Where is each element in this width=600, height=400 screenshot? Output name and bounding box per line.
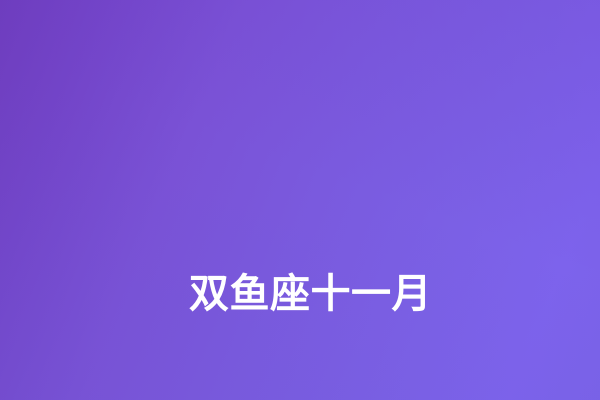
headline-line-1: 双鱼座十一月 — [189, 264, 432, 324]
page-title: 双鱼座十一月 运势2023 — [189, 144, 432, 400]
poster-canvas: 双鱼座十一月 运势2023 — [0, 0, 600, 400]
